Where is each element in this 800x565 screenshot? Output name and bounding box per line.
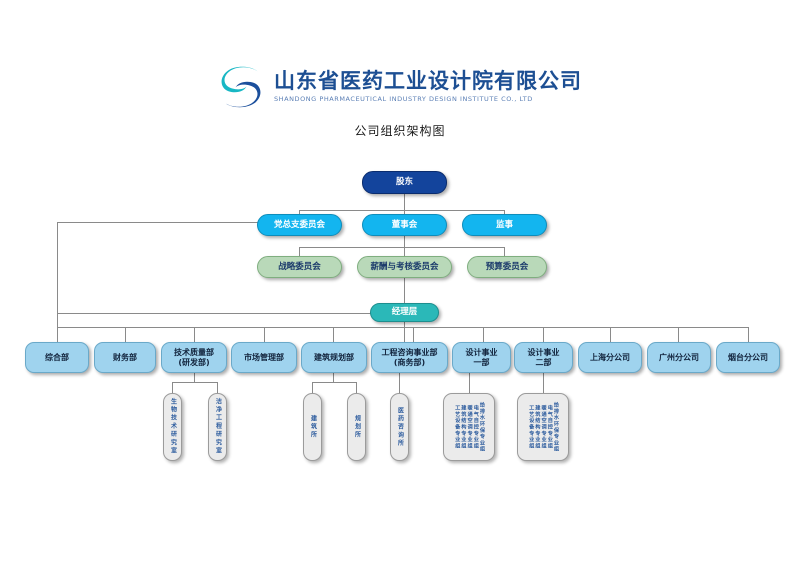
connector-governance-bus — [299, 210, 505, 211]
branch-guangzhou[interactable]: 广州分公司 — [647, 342, 711, 373]
connector-board-to-management — [404, 278, 405, 303]
dept-design-one-line2: 一部 — [466, 358, 498, 368]
dept-engineering-consulting[interactable]: 工程咨询事业部 (商务部) — [371, 342, 448, 373]
connector-dept-drop-10 — [748, 327, 749, 342]
dept-technical-quality[interactable]: 技术质量部 (研发部) — [161, 342, 227, 373]
dept-design-two-line1: 设计事业 — [528, 348, 560, 358]
logo-row: 山东省医药工业设计院有限公司 SHANDONG PHARMACEUTICAL I… — [0, 64, 800, 110]
subunit-d1-architecture-structure: 建筑结构专业组 — [460, 405, 465, 449]
connector-management-down — [404, 322, 405, 342]
connector-tq-bus — [172, 382, 217, 383]
subunit-d1-plumbing-env: 给排水环保专业组 — [479, 402, 484, 452]
company-name-en: SHANDONG PHARMACEUTICAL INDUSTRY DESIGN … — [274, 96, 533, 103]
subunit-d2-electrical-control: 电气自控专业组 — [547, 405, 552, 449]
connector-dept-drop-3 — [264, 327, 265, 342]
connector-ap-sub-1 — [356, 382, 357, 393]
subunit-d2-architecture-structure: 建筑结构专业组 — [534, 405, 539, 449]
subunit-d2-hvac: 暖通空调专业组 — [540, 405, 545, 449]
connector-tq-down — [194, 373, 195, 382]
node-party-committee[interactable]: 党总支委员会 — [257, 214, 342, 236]
branch-yantai[interactable]: 烟台分公司 — [716, 342, 780, 373]
connector-party-left — [57, 222, 262, 223]
dept-technical-quality-line2: (研发部) — [174, 358, 214, 368]
company-name-cn: 山东省医药工业设计院有限公司 — [274, 71, 582, 92]
connector-board-down — [404, 236, 405, 247]
connector-dept-drop-2 — [194, 327, 195, 342]
node-management-layer[interactable]: 经理层 — [370, 303, 439, 322]
subunit-d2-plumbing-env: 给排水环保专业组 — [553, 402, 558, 452]
dept-engineering-consulting-line2: (商务部) — [382, 358, 438, 368]
node-supervisor[interactable]: 监事 — [462, 214, 547, 236]
subunit-d1-process-equipment: 工艺设备专业组 — [454, 405, 459, 449]
connector-dept-drop-0 — [57, 327, 58, 342]
subunit-cleanroom-lab[interactable]: 洁净工程研究室 — [208, 393, 227, 461]
subunit-cleanroom-lab-label: 洁净工程研究室 — [215, 398, 221, 455]
connector-department-bus — [57, 327, 748, 328]
subunit-pharma-consulting-institute[interactable]: 医药咨询所 — [390, 393, 409, 461]
subunit-group-design-two[interactable]: 给排水环保专业组 电气自控专业组 暖通空调专业组 建筑结构专业组 工艺设备专业组 — [517, 393, 569, 461]
connector-compensation-up — [404, 247, 405, 256]
dept-general-affairs[interactable]: 综合部 — [25, 342, 89, 373]
connector-dept-drop-5 — [413, 327, 414, 342]
dept-technical-quality-line1: 技术质量部 — [174, 348, 214, 358]
chart-title: 公司组织架构图 — [0, 122, 800, 139]
branch-shanghai[interactable]: 上海分公司 — [578, 342, 642, 373]
dept-design-division-one[interactable]: 设计事业 一部 — [452, 342, 511, 373]
subunit-biotech-lab-label: 生物技术研究室 — [170, 398, 176, 455]
node-strategy-committee[interactable]: 战略委员会 — [257, 256, 342, 278]
subunit-d1-electrical-control: 电气自控专业组 — [473, 405, 478, 449]
node-budget-committee[interactable]: 预算委员会 — [467, 256, 547, 278]
dept-market-management[interactable]: 市场管理部 — [231, 342, 297, 373]
dept-architecture-planning[interactable]: 建筑规划部 — [301, 342, 367, 373]
connector-dept-drop-6 — [483, 327, 484, 342]
dept-finance[interactable]: 财务部 — [94, 342, 156, 373]
connector-ap-bus — [312, 382, 356, 383]
stylized-s-logo-icon — [218, 64, 264, 110]
connector-ap-sub-0 — [312, 382, 313, 393]
connector-budget-up — [504, 247, 505, 256]
connector-dept-drop-1 — [125, 327, 126, 342]
dept-design-two-line2: 二部 — [528, 358, 560, 368]
subunit-group-design-one[interactable]: 给排水环保专业组 电气自控专业组 暖通空调专业组 建筑结构专业组 工艺设备专业组 — [443, 393, 495, 461]
connector-dept-drop-8 — [610, 327, 611, 342]
node-board-of-directors[interactable]: 董事会 — [362, 214, 447, 236]
connector-party-rail — [57, 222, 58, 327]
node-compensation-committee[interactable]: 薪酬与考核委员会 — [357, 256, 452, 278]
logo-text: 山东省医药工业设计院有限公司 SHANDONG PHARMACEUTICAL I… — [274, 71, 582, 103]
connector-strategy-up — [299, 247, 300, 256]
subunit-d1-hvac: 暖通空调专业组 — [466, 405, 471, 449]
connector-ap-down — [333, 373, 334, 382]
connector-committee-bus — [299, 247, 505, 248]
dept-design-division-two[interactable]: 设计事业 二部 — [514, 342, 573, 373]
connector-management-left — [57, 313, 382, 314]
dept-engineering-consulting-line1: 工程咨询事业部 — [382, 348, 438, 358]
subunit-planning-institute-label: 规划所 — [354, 415, 360, 440]
connector-dept-drop-4 — [333, 327, 334, 342]
company-header: 山东省医药工业设计院有限公司 SHANDONG PHARMACEUTICAL I… — [0, 64, 800, 110]
connector-tq-sub-0 — [172, 382, 173, 393]
subunit-architecture-institute[interactable]: 建筑所 — [303, 393, 322, 461]
org-chart-page: 山东省医药工业设计院有限公司 SHANDONG PHARMACEUTICAL I… — [0, 0, 800, 565]
connector-shareholder-down — [404, 194, 405, 210]
subunit-d2-process-equipment: 工艺设备专业组 — [528, 405, 533, 449]
connector-ec-down — [399, 373, 400, 393]
subunit-pharma-consulting-institute-label: 医药咨询所 — [397, 407, 403, 448]
connector-d2-down — [543, 373, 544, 393]
subunit-architecture-institute-label: 建筑所 — [310, 415, 316, 440]
dept-design-one-line1: 设计事业 — [466, 348, 498, 358]
node-shareholder[interactable]: 股东 — [362, 171, 447, 194]
connector-dept-drop-9 — [678, 327, 679, 342]
connector-tq-sub-1 — [217, 382, 218, 393]
connector-dept-drop-7 — [543, 327, 544, 342]
subunit-planning-institute[interactable]: 规划所 — [347, 393, 366, 461]
subunit-biotech-lab[interactable]: 生物技术研究室 — [163, 393, 182, 461]
connector-d1-down — [469, 373, 470, 393]
